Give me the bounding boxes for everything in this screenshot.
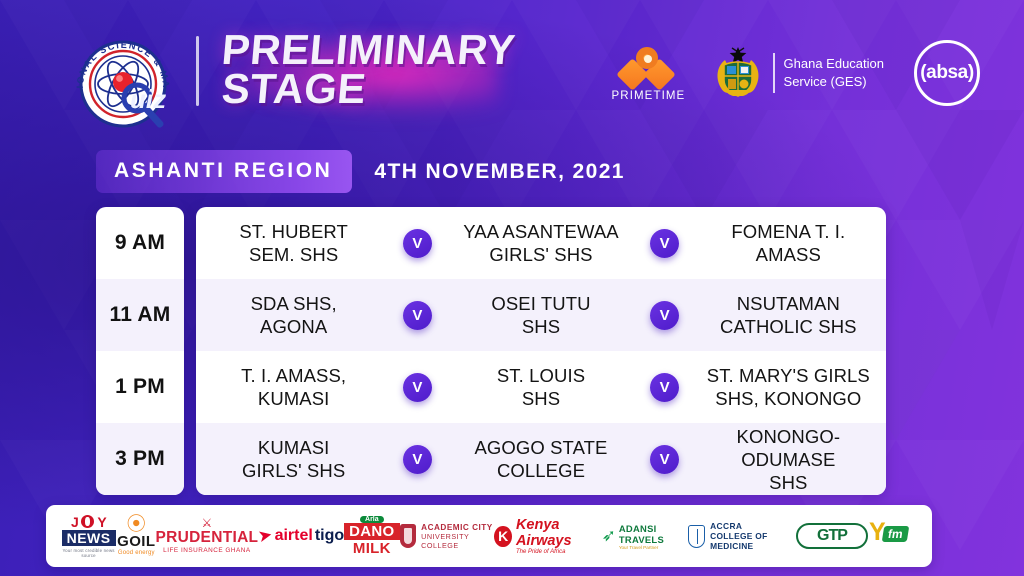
team-name-3: NSUTAMANCATHOLIC SHS — [691, 292, 886, 338]
academic-city-line2: UNIVERSITY COLLEGE — [421, 532, 494, 550]
ges-divider — [773, 53, 775, 93]
goil-name: GOIL — [117, 533, 155, 550]
sponsor-dano-milk-logo: Arla DANO MILK — [344, 516, 399, 557]
prudential-figure-icon: ⚔ — [202, 518, 213, 529]
sponsor-joy-news-logo: J Y NEWS Your most credible news source — [60, 514, 117, 558]
kenya-airways-tagline: The Pride of Africa — [516, 549, 602, 555]
goil-tagline: Good energy — [118, 550, 155, 556]
sponsor-academic-city-logo: ACADEMIC CITY UNIVERSITY COLLEGE — [400, 523, 495, 550]
sponsor-bar: J Y NEWS Your most credible news source … — [46, 505, 932, 567]
joy-j: J — [69, 514, 80, 530]
sponsor-yfm-logo: Y fm — [868, 520, 918, 552]
accra-medicine-line1: ACCRA — [710, 521, 796, 531]
vs-separator: V — [391, 301, 443, 330]
sponsor-goil-logo: ⦿ GOIL Good energy — [117, 516, 155, 556]
ges-logo: Ghana Education Service (GES) — [712, 46, 884, 100]
kenya-airways-k-icon: K — [494, 526, 512, 547]
vs-badge: V — [650, 229, 679, 258]
header: NATIONAL SCIENCE & MATHS uiz PRELIMINARY… — [0, 0, 1024, 140]
primetime-logo-icon: PRIMETIME — [612, 45, 682, 102]
match-column: ST. HUBERTSEM. SHSVYAA ASANTEWAAGIRLS' S… — [196, 207, 886, 495]
academic-city-crest-icon — [400, 524, 417, 548]
team-name-2: ST. LOUISSHS — [443, 364, 638, 410]
vs-badge: V — [403, 445, 432, 474]
time-label: 9 AM — [115, 231, 165, 255]
vs-badge: V — [403, 373, 432, 402]
partner-logos: PRIMETIME — [612, 36, 980, 110]
dano-label: DANO — [344, 523, 399, 540]
schedule-table: 9 AM11 AM1 PM3 PM ST. HUBERTSEM. SHSVYAA… — [96, 207, 886, 495]
vs-separator: V — [639, 301, 691, 330]
vs-badge: V — [650, 301, 679, 330]
absa-label: (absa) — [920, 62, 974, 84]
team-name-2: YAA ASANTEWAAGIRLS' SHS — [443, 220, 638, 266]
time-column: 9 AM11 AM1 PM3 PM — [96, 207, 184, 495]
adansi-tagline: Your Travel Partner — [619, 545, 688, 550]
prudential-name: PRUDENTIAL — [155, 529, 258, 547]
team-name-1: SDA SHS,AGONA — [196, 292, 391, 338]
team-name-1: KUMASIGIRLS' SHS — [196, 436, 391, 482]
joy-news-wordmark: J Y — [69, 514, 108, 530]
page-title-line1: PRELIMINARY — [220, 30, 517, 69]
team-name-3: KONONGO-ODUMASESHS — [691, 425, 886, 494]
time-label: 11 AM — [110, 303, 171, 327]
vs-badge: V — [403, 301, 432, 330]
vs-badge: V — [650, 445, 679, 474]
primetime-label: PRIMETIME — [612, 90, 682, 102]
ges-label-line1: Ghana Education — [784, 55, 884, 73]
team-name-3: ST. MARY'S GIRLSSHS, KONONGO — [691, 364, 886, 410]
time-label: 1 PM — [115, 375, 165, 399]
time-label: 3 PM — [115, 447, 165, 471]
vs-separator: V — [391, 229, 443, 258]
title-divider — [196, 36, 199, 106]
event-meta: ASHANTI REGION 4TH NOVEMBER, 2021 — [96, 150, 625, 193]
yfm-fm: fm — [882, 526, 909, 542]
sponsor-kenya-airways-logo: K Kenya Airways The Pride of Africa — [494, 517, 601, 555]
ges-label: Ghana Education Service (GES) — [784, 55, 884, 91]
team-name-3: FOMENA T. I.AMASS — [691, 220, 886, 266]
sponsor-prudential-logo: ⚔ PRUDENTIAL LIFE INSURANCE GHANA — [155, 518, 258, 554]
joy-globe-icon — [81, 515, 94, 528]
airteltigo-arrow-icon: ➤ — [256, 525, 274, 548]
event-date: 4TH NOVEMBER, 2021 — [374, 160, 624, 184]
adansi-name: ADANSI TRAVELS — [619, 523, 688, 545]
vs-separator: V — [639, 373, 691, 402]
ges-label-line2: Service (GES) — [784, 73, 884, 91]
joy-news-tagline: Your most credible news source — [60, 548, 117, 558]
time-cell: 1 PM — [96, 351, 184, 423]
joy-y: Y — [95, 514, 108, 530]
prudential-tagline: LIFE INSURANCE GHANA — [163, 547, 250, 554]
adansi-bird-icon: ➶ — [602, 526, 616, 546]
sponsor-gtp-logo: GTP — [796, 523, 868, 549]
team-name-1: ST. HUBERTSEM. SHS — [196, 220, 391, 266]
sponsor-airteltigo-logo: ➤ airtel tigo — [258, 526, 344, 546]
vs-separator: V — [639, 445, 691, 474]
arla-label: Arla — [360, 516, 384, 523]
vs-separator: V — [639, 229, 691, 258]
page-title: PRELIMINARY STAGE — [222, 30, 515, 108]
vs-badge: V — [650, 373, 679, 402]
vs-badge: V — [403, 229, 432, 258]
svg-text:uiz: uiz — [130, 84, 166, 114]
region-badge: ASHANTI REGION — [96, 150, 352, 193]
joy-news-label: NEWS — [62, 530, 116, 546]
primetime-ring — [636, 47, 658, 69]
time-cell: 11 AM — [96, 279, 184, 351]
academic-city-line1: ACADEMIC CITY — [421, 523, 494, 532]
vs-separator: V — [391, 373, 443, 402]
sponsor-adansi-travels-logo: ➶ ADANSI TRAVELS Your Travel Partner — [602, 523, 689, 550]
absa-logo-icon: (absa) — [914, 40, 980, 106]
team-name-2: AGOGO STATECOLLEGE — [443, 436, 638, 482]
match-row: SDA SHS,AGONAVOSEI TUTUSHSVNSUTAMANCATHO… — [196, 279, 886, 351]
match-row: ST. HUBERTSEM. SHSVYAA ASANTEWAAGIRLS' S… — [196, 207, 886, 279]
gtp-name: GTP — [817, 527, 847, 545]
time-cell: 3 PM — [96, 423, 184, 495]
nsmq-logo-icon: NATIONAL SCIENCE & MATHS uiz — [64, 26, 182, 136]
sponsor-accra-college-medicine-logo: ACCRA COLLEGE OF MEDICINE — [688, 521, 796, 551]
ghana-coat-of-arms-icon — [712, 46, 764, 100]
team-name-1: T. I. AMASS,KUMASI — [196, 364, 391, 410]
tigo-name: tigo — [315, 527, 344, 545]
team-name-2: OSEI TUTUSHS — [443, 292, 638, 338]
match-row: KUMASIGIRLS' SHSVAGOGO STATECOLLEGEVKONO… — [196, 423, 886, 495]
accra-medicine-shield-icon — [688, 525, 705, 548]
kenya-airways-name: Kenya Airways — [516, 517, 602, 549]
vs-separator: V — [391, 445, 443, 474]
accra-medicine-line2: COLLEGE OF MEDICINE — [710, 531, 796, 551]
match-row: T. I. AMASS,KUMASIVST. LOUISSHSVST. MARY… — [196, 351, 886, 423]
primetime-mark — [612, 45, 682, 89]
page-title-line2: STAGE — [220, 69, 517, 108]
dano-milk-label: MILK — [353, 540, 391, 557]
time-cell: 9 AM — [96, 207, 184, 279]
goil-swirl-icon: ⦿ — [127, 516, 146, 533]
airtel-name: airtel — [275, 527, 313, 545]
